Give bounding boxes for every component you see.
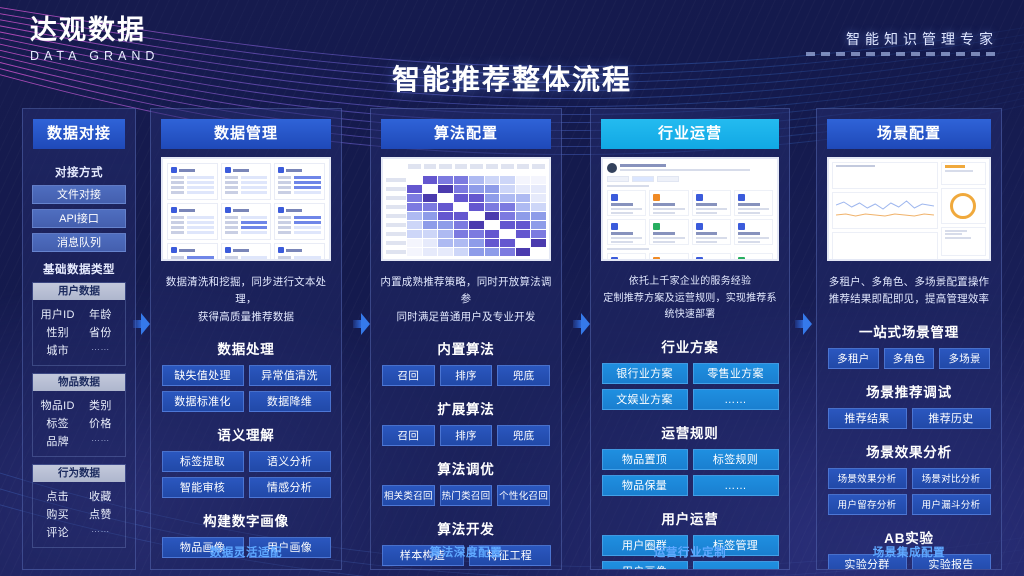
section-items-one-stop-scene: 多租户 多角色 多场景 [817,348,1001,369]
thumb-solution-card [734,219,773,245]
screenshot-thumbnail-scene-dashboard [827,157,991,261]
field-label: 点击 [38,488,77,504]
heatmap-cell [500,176,515,184]
footer-label-data-management: 数据灵活适配 [151,544,341,560]
heatmap-cell [423,194,438,202]
heatmap-cell [516,230,531,238]
heatmap-col-label [424,164,437,169]
thumb-card [167,163,218,200]
footer-label-algorithm-config: 算法深度配置 [371,544,561,560]
pill-outlier-cleaning[interactable]: 异常值清洗 [249,365,331,386]
heatmap-cell [438,248,453,256]
field-label: 收藏 [81,488,120,504]
heatmap-row-label [386,241,406,245]
heatmap-cell [500,194,515,202]
heatmap-cell [438,194,453,202]
flow-diagram: 数据对接 对接方式 文件对接 API接口 消息队列 基础数据类型 用户数据 用户… [0,108,1024,576]
heatmap-cell [407,221,422,229]
data-group-user: 用户数据 用户ID 年龄 性别 省份 城市 …… [32,282,126,366]
card-icon [225,167,231,173]
pill-more-solution[interactable]: …… [693,389,779,410]
pill-dim-reduction[interactable]: 数据降维 [249,391,331,412]
thumb-solution-card [649,190,688,216]
thumb-line-chart [832,192,938,229]
pill-ranking-extended[interactable]: 排序 [440,425,493,446]
field-label: 类别 [81,397,120,413]
heatmap-cell [454,230,469,238]
heatmap-cell [423,221,438,229]
column-title-industry-operation: 行业运营 [601,119,779,149]
heatmap-cell [423,212,438,220]
data-group-user-title: 用户数据 [33,283,125,300]
pill-recall-builtin[interactable]: 召回 [382,365,435,386]
heatmap-row-label [386,214,406,218]
footer-label-industry-operation: 运营行业定制 [591,544,789,560]
pill-semantic-analysis[interactable]: 语义分析 [249,451,331,472]
flow-arrow-2 [353,313,369,335]
column-description-industry-operation: 依托上千家企业的服务经验 定制推荐方案及运营规则，实现推荐系统快速部署 [599,274,781,324]
heatmap-cell [438,212,453,220]
pill-more-user-ops[interactable]: …… [693,561,779,571]
pill-scene-effect-analysis[interactable]: 场景效果分析 [828,468,907,489]
thumb-solution-card [607,219,646,245]
thumb-solution-card [692,219,731,245]
heatmap-row-label [386,187,406,191]
app-logo-icon [607,163,617,173]
heatmap-cell [516,221,531,229]
heatmap-cell [531,176,546,184]
section-title-one-stop-scene: 一站式场景管理 [817,321,1001,341]
thumb-card [167,243,218,261]
heatmap-cell [516,239,531,247]
heatmap-cell [516,248,531,256]
heatmap-cell [485,248,500,256]
heatmap-cell [485,212,500,220]
heatmap-cell [516,176,531,184]
thumb-card [221,243,272,261]
heatmap-cell [531,221,546,229]
field-label: 价格 [81,415,120,431]
thumb-solution-card [649,253,688,261]
column-description-data-management: 数据清洗和挖掘，同步进行文本处理， 获得高质量推荐数据 [159,274,333,326]
data-group-item-title: 物品数据 [33,374,125,391]
thumb-solution-card [692,190,731,216]
pill-user-funnel-analysis[interactable]: 用户漏斗分析 [912,494,991,515]
heatmap-cell [469,185,484,193]
thumb-kpi-panel [832,162,938,189]
card-icon [171,207,177,213]
data-group-behavior-title: 行为数据 [33,465,125,482]
heatmap-cell [531,185,546,193]
card-icon [171,167,177,173]
pill-multi-tenant[interactable]: 多租户 [828,348,879,369]
heatmap-cell [516,203,531,211]
data-field-row: 点击 收藏 [38,488,120,504]
heatmap-cell [485,221,500,229]
heatmap-col-label [439,164,452,169]
column-title-data-docking: 数据对接 [33,119,125,149]
section-title-scene-effect: 场景效果分析 [817,441,1001,461]
thumb-solution-card [734,190,773,216]
heatmap-cell [500,185,515,193]
heatmap-cell [438,203,453,211]
heatmap-cell [469,176,484,184]
heatmap-cell [423,185,438,193]
heatmap-cell [485,203,500,211]
card-icon [278,247,284,253]
column-title-algorithm-config: 算法配置 [381,119,551,149]
thumb-card [274,243,325,261]
pill-fallback-builtin[interactable]: 兜底 [497,365,550,386]
heatmap-cell [469,230,484,238]
heatmap-cell [469,239,484,247]
column-title-scene-config: 场景配置 [827,119,991,149]
section-items-industry-solution: 银行业方案 零售业方案 文娱业方案 …… [591,363,789,410]
thumb-tab [657,176,679,182]
heatmap-cell [407,194,422,202]
pill-tag-rules[interactable]: 标签规则 [693,449,779,470]
pill-banking-solution[interactable]: 银行业方案 [602,363,688,384]
heatmap-cell [469,212,484,220]
docking-method-label: 对接方式 [32,164,126,180]
heatmap-row-label [386,178,406,182]
data-field-row: 性别 省份 [38,324,120,340]
field-label: 购买 [38,506,77,522]
heatmap-row-label [386,232,406,236]
data-field-row: 品牌 …… [38,433,120,449]
heatmap-cell [531,194,546,202]
thumb-solution-card [607,253,646,261]
thumb-solution-card [607,190,646,216]
section-title-algo-dev: 算法开发 [371,518,561,538]
column-scene-config: 场景配置 [816,108,1002,570]
section-items-scene-effect: 场景效果分析 场景对比分析 用户留存分析 用户漏斗分析 [817,468,1001,515]
thumb-empty-panel [941,227,986,256]
card-icon [225,247,231,253]
heatmap-cell [407,203,422,211]
thumb-solution-card [692,253,731,261]
field-ellipsis: …… [81,342,120,358]
thumb-solution-card [649,219,688,245]
heatmap-cell [500,239,515,247]
section-title-builtin-algo: 内置算法 [371,338,561,358]
section-title-industry-solution: 行业方案 [591,336,789,356]
heatmap-cell [454,248,469,256]
flow-arrow-4 [795,313,811,335]
thumb-summary-panel [941,162,986,185]
heatmap-cell [407,185,422,193]
heatmap-cell [407,230,422,238]
heatmap-cell [423,230,438,238]
column-title-data-management: 数据管理 [161,119,331,149]
heatmap-cell [485,230,500,238]
pill-user-portrait[interactable]: 用户画像 [602,561,688,571]
section-items-builtin-algo: 召回 排序 兜底 [371,365,561,386]
heatmap-row-label [386,205,406,209]
pill-smart-review[interactable]: 智能审核 [162,477,244,498]
column-description-algorithm-config: 内置成熟推荐策略，同时开放算法调参 同时满足普通用户及专业开发 [379,274,553,326]
page-title: 智能推荐整体流程 [0,58,1024,98]
heatmap-col-label [486,164,499,169]
section-items-scene-debug: 推荐结果 推荐历史 [817,408,1001,429]
section-items-algo-tuning: 相关类召回 热门类召回 个性化召回 [371,485,561,506]
pill-ranking-builtin[interactable]: 排序 [440,365,493,386]
brand-name-cn: 达观数据 [30,16,159,44]
field-label: 物品ID [38,397,77,413]
brand-logo: 达观数据 DATA GRAND [30,16,159,63]
base-data-type-label: 基础数据类型 [32,261,126,277]
data-field-row: 用户ID 年龄 [38,306,120,322]
section-title-algo-tuning: 算法调优 [371,458,561,478]
card-icon [278,207,284,213]
thumb-card [274,203,325,240]
heatmap-cell [469,221,484,229]
field-label: 品牌 [38,433,77,449]
flow-arrow-1 [133,313,149,335]
data-field-row: 购买 点赞 [38,506,120,522]
screenshot-thumbnail-algorithm-heatmap [381,157,551,261]
heatmap-cell [531,239,546,247]
pill-recall-extended[interactable]: 召回 [382,425,435,446]
column-data-management: 数据管理 数据清洗和挖掘，同步进行文本处理， 获得高质量推荐数据 数据处理 缺失… [150,108,342,570]
heatmap-cell [438,239,453,247]
heatmap-cell [438,221,453,229]
heatmap-cell [454,176,469,184]
data-group-behavior: 行为数据 点击 收藏 购买 点赞 评论 …… [32,464,126,548]
heatmap-corner [386,162,406,175]
heatmap-cell [485,185,500,193]
field-label: 评论 [38,524,77,540]
pill-missing-value[interactable]: 缺失值处理 [162,365,244,386]
heatmap-row-label [386,196,406,200]
docking-method-file[interactable]: 文件对接 [32,185,126,204]
heatmap-cell [407,248,422,256]
column-industry-operation: 行业运营 [590,108,790,570]
heatmap-cell [500,212,515,220]
heatmap-cell [407,176,422,184]
data-group-item: 物品数据 物品ID 类别 标签 价格 品牌 …… [32,373,126,457]
pill-fallback-extended[interactable]: 兜底 [497,425,550,446]
flow-arrow-3 [573,313,589,335]
page-header: 达观数据 DATA GRAND 智能知识管理专家 智能推荐整体流程 [0,0,1024,100]
heatmap-col-label [455,164,468,169]
heatmap-cell [469,248,484,256]
section-title-data-processing: 数据处理 [151,338,341,358]
pill-sentiment-analysis[interactable]: 情感分析 [249,477,331,498]
heatmap-col-label [470,164,483,169]
pill-multi-scene[interactable]: 多场景 [939,348,990,369]
heatmap-cell [500,230,515,238]
pill-item-pinning[interactable]: 物品置顶 [602,449,688,470]
pill-standardization[interactable]: 数据标准化 [162,391,244,412]
heatmap-cell [485,176,500,184]
donut-chart-icon [950,193,976,219]
thumb-tab [632,176,654,182]
field-label: 城市 [38,342,77,358]
section-title-scene-debug: 场景推荐调试 [817,381,1001,401]
pill-entertainment-solution[interactable]: 文娱业方案 [602,389,688,410]
field-ellipsis: …… [81,524,120,540]
line-chart-icon [836,195,934,221]
pill-retail-solution[interactable]: 零售业方案 [693,363,779,384]
header-slogan: 智能知识管理专家 [846,29,998,49]
thumb-card [167,203,218,240]
data-field-row: 物品ID 类别 [38,397,120,413]
screenshot-thumbnail-industry-solutions [601,157,779,261]
thumb-tab [607,176,629,182]
pill-recommend-result[interactable]: 推荐结果 [828,408,907,429]
thumb-card [274,163,325,200]
card-icon [278,167,284,173]
heatmap-cell [531,203,546,211]
thumb-donut-panel [941,188,986,224]
section-items-operation-rules: 物品置顶 标签规则 物品保量 …… [591,449,789,496]
section-title-extended-algo: 扩展算法 [371,398,561,418]
data-field-row: 标签 价格 [38,415,120,431]
slogan-underline-decoration [806,52,996,56]
pill-more-rules[interactable]: …… [693,475,779,496]
heatmap-col-label [532,164,545,169]
heatmap-cell [454,185,469,193]
heatmap-cell [438,230,453,238]
heatmap-cell [516,212,531,220]
heatmap-col-label [517,164,530,169]
heatmap-row-label [386,223,406,227]
heatmap-cell [469,194,484,202]
heatmap-cell [516,194,531,202]
field-label: 性别 [38,324,77,340]
section-title-digital-profile: 构建数字画像 [151,510,341,530]
data-field-row: 评论 …… [38,524,120,540]
pill-recommend-history[interactable]: 推荐历史 [912,408,991,429]
heatmap-cell [407,239,422,247]
heatmap-cell [454,203,469,211]
field-label: 省份 [81,324,120,340]
section-title-user-operation: 用户运营 [591,508,789,528]
heatmap-cell [454,194,469,202]
field-label: 标签 [38,415,77,431]
card-icon [225,207,231,213]
heatmap-cell [454,212,469,220]
heatmap-cell [438,176,453,184]
pill-hot-recall[interactable]: 热门类召回 [440,485,493,506]
section-items-semantic: 标签提取 语义分析 智能审核 情感分析 [151,451,341,498]
field-label: 年龄 [81,306,120,322]
column-description-scene-config: 多租户、多角色、多场景配置操作 推荐结果即配即见，提高管理效率 [825,274,993,309]
heatmap-cell [454,239,469,247]
docking-method-api[interactable]: API接口 [32,209,126,228]
data-field-row: 城市 …… [38,342,120,358]
pill-tag-extraction[interactable]: 标签提取 [162,451,244,472]
field-label: 用户ID [38,306,77,322]
heatmap-cell [454,221,469,229]
heatmap-cell [500,248,515,256]
heatmap-cell [485,239,500,247]
heatmap-col-label [408,164,421,169]
heatmap-cell [531,248,546,256]
thumb-card [221,163,272,200]
heatmap-cell [423,248,438,256]
heatmap-cell [485,194,500,202]
heatmap-cell [531,212,546,220]
heatmap-cell [500,203,515,211]
heatmap-cell [423,239,438,247]
pill-personalized-recall[interactable]: 个性化召回 [497,485,550,506]
section-title-semantic: 语义理解 [151,424,341,444]
heatmap-cell [469,203,484,211]
thumb-solution-card [734,253,773,261]
thumb-bar-chart [832,232,938,261]
heatmap-cell [407,212,422,220]
heatmap-cell [438,185,453,193]
thumb-card [221,203,272,240]
column-algorithm-config: 算法配置 内置成熟推荐策略，同时开放算法调参 同时满足普通用户及专业开发 内置算… [370,108,562,570]
heatmap-row-label [386,250,406,254]
heatmap-cell [531,230,546,238]
heatmap-cell [423,176,438,184]
pill-item-guarantee[interactable]: 物品保量 [602,475,688,496]
field-ellipsis: …… [81,433,120,449]
pill-multi-role[interactable]: 多角色 [884,348,935,369]
heatmap-cell [516,185,531,193]
section-items-extended-algo: 召回 排序 兜底 [371,425,561,446]
section-title-operation-rules: 运营规则 [591,422,789,442]
card-icon [171,247,177,253]
pill-related-recall[interactable]: 相关类召回 [382,485,435,506]
heatmap-cell [500,221,515,229]
heatmap-cell [423,203,438,211]
field-label: 点赞 [81,506,120,522]
docking-method-mq[interactable]: 消息队列 [32,233,126,252]
screenshot-thumbnail-data-management [161,157,331,261]
footer-label-scene-config: 场景集成配置 [817,544,1001,560]
column-data-docking: 数据对接 对接方式 文件对接 API接口 消息队列 基础数据类型 用户数据 用户… [22,108,136,570]
pill-scene-compare-analysis[interactable]: 场景对比分析 [912,468,991,489]
section-items-data-processing: 缺失值处理 异常值清洗 数据标准化 数据降维 [151,365,341,412]
pill-user-retention-analysis[interactable]: 用户留存分析 [828,494,907,515]
heatmap-col-label [501,164,514,169]
